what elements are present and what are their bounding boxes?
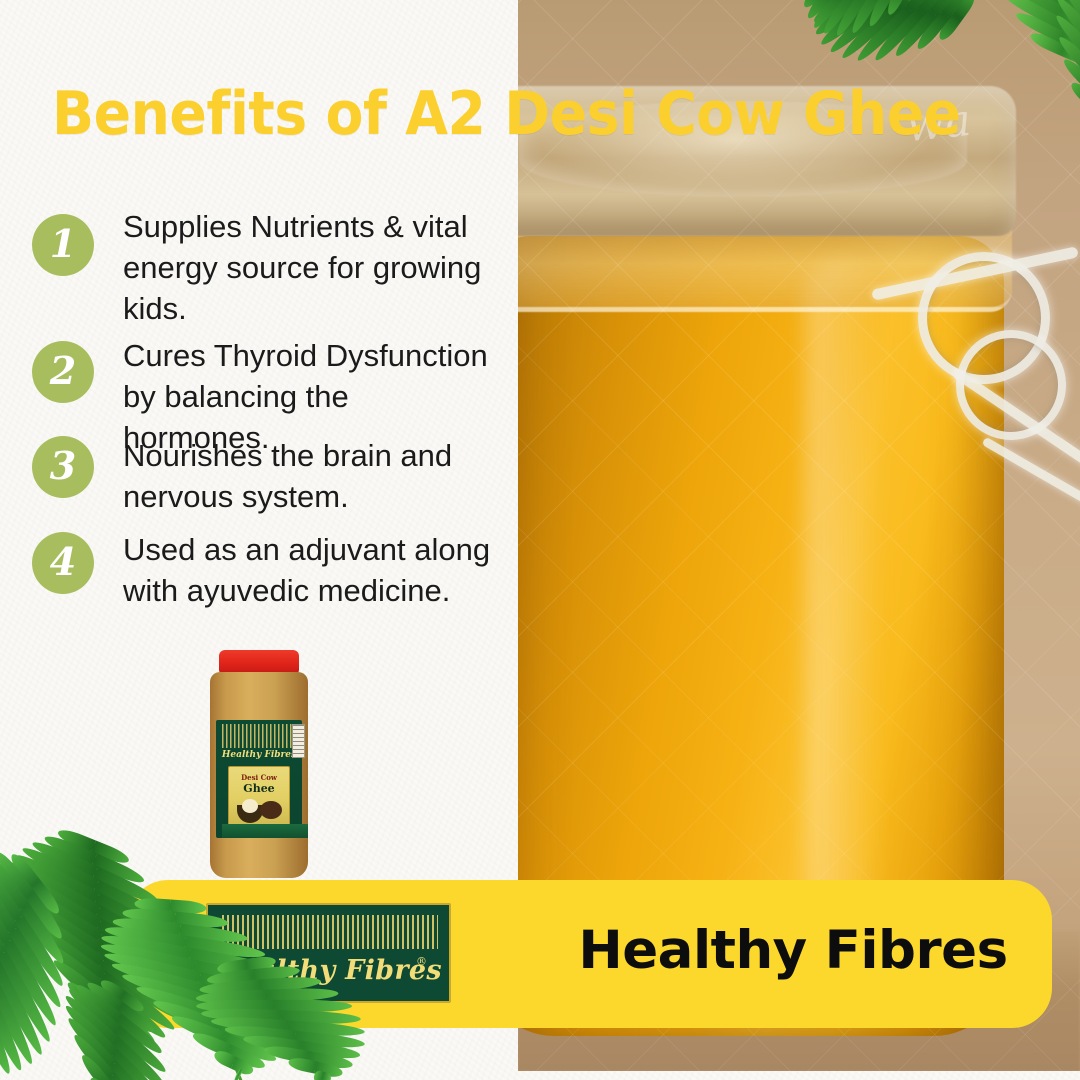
frond-leaflet	[1060, 44, 1080, 70]
frond-leaflet	[175, 912, 229, 930]
frond-leaflet	[811, 0, 852, 27]
frond-leaflet	[91, 840, 131, 866]
frond-leaflet	[207, 996, 298, 1035]
frond-leaflet	[7, 851, 40, 888]
frond-leaflet	[42, 832, 97, 866]
frond-leaflet	[66, 985, 121, 1035]
frond-leaflet	[7, 866, 102, 930]
frond-leaflet	[110, 1050, 166, 1080]
frond-leaflet	[866, 0, 899, 28]
product-jar-lid	[219, 650, 299, 674]
frond-leaflet	[108, 1061, 160, 1080]
label-product-line2: Ghee	[229, 782, 289, 795]
benefit-text: Supplies Nutrients & vital energy source…	[123, 206, 503, 329]
frond-leaflet	[0, 1010, 3, 1077]
frond-leaflet	[193, 960, 289, 993]
frond-leaflet	[833, 0, 876, 38]
frond-leaflet	[65, 1015, 117, 1069]
label-inner-panel: Desi Cow Ghee	[228, 766, 290, 828]
frond-leaflet	[246, 955, 277, 971]
frond-leaflet	[93, 880, 172, 928]
product-jar-label: Healthy Fibres Desi Cow Ghee	[216, 720, 302, 838]
frond-leaflet	[274, 1000, 352, 1012]
frond-leaflet	[134, 897, 171, 912]
frond-leaflet	[1058, 5, 1080, 53]
frond-leaflet	[9, 857, 101, 917]
frond-leaflet	[7, 927, 65, 1010]
frond-leaflet	[119, 991, 146, 1015]
frond-leaflet	[95, 906, 187, 966]
ghee-bowl-illustration	[237, 805, 263, 823]
palm-frond-icon	[1052, 0, 1065, 56]
frond-leaflet	[99, 971, 178, 1034]
frond-leaflet	[904, 0, 963, 13]
frond-leaflet	[0, 986, 26, 1073]
frond-leaflet	[868, 0, 926, 7]
frond-leaflet	[1060, 31, 1080, 65]
frond-leaflet	[212, 1008, 294, 1047]
frond-leaflet	[1, 939, 61, 1029]
frond-leaflet	[314, 1061, 343, 1079]
frond-leaflet	[0, 856, 12, 946]
frond-leaflet	[64, 978, 110, 1020]
frond-leaflet	[27, 918, 106, 981]
nutrition-table-icon	[292, 724, 305, 758]
frond-leaflet	[170, 1012, 227, 1045]
frond-leaflet	[313, 1070, 324, 1080]
benefit-text: Nourishes the brain and nervous system.	[123, 435, 503, 517]
frond-leaflet	[1013, 9, 1065, 43]
frond-leaflet	[98, 977, 125, 1001]
frond-leaflet	[92, 1026, 112, 1046]
frond-leaflet	[198, 972, 296, 1008]
frond-leaflet	[0, 848, 23, 922]
frond-leaflet	[134, 982, 216, 1021]
frond-leaflet	[19, 902, 106, 968]
frond-leaflet	[73, 981, 122, 1023]
frond-leaflet	[991, 0, 1065, 16]
frond-leaflet	[1062, 0, 1080, 37]
frond-leaflet	[321, 1072, 332, 1080]
frond-leaflet	[287, 1020, 365, 1038]
frond-leaflet	[913, 11, 949, 52]
frond-leaflet	[100, 940, 196, 973]
frond-stem	[1054, 0, 1065, 56]
frond-leaflet	[813, 0, 864, 38]
frond-leaflet	[84, 979, 124, 1013]
frond-leaflet	[827, 0, 889, 57]
frond-leaflet	[93, 867, 161, 908]
frond-leaflet	[839, 2, 901, 62]
frond-leaflet	[106, 1073, 151, 1080]
frond-leaflet	[110, 959, 206, 997]
frond-leaflet	[0, 998, 15, 1076]
frond-leaflet	[96, 932, 191, 998]
frond-leaflet	[151, 996, 222, 1033]
frond-leaflet	[1060, 56, 1080, 97]
frond-leaflet	[78, 1052, 114, 1080]
frond-leaflet	[1058, 0, 1080, 46]
frond-leaflet	[0, 963, 47, 1057]
frond-leaflet	[936, 13, 962, 42]
frond-leaflet	[818, 0, 876, 48]
frond-leaflet	[191, 1029, 232, 1056]
frond-leaflet	[201, 1007, 281, 1022]
frond-leaflet	[1055, 0, 1080, 5]
frond-leaflet	[1028, 29, 1066, 55]
frond-leaflet	[179, 924, 248, 946]
frond-leaflet	[288, 1056, 317, 1074]
frond-leaflet	[916, 0, 969, 15]
frond-leaflet	[100, 931, 191, 960]
frond-leaflet	[70, 1032, 115, 1080]
frond-leaflet	[212, 1048, 236, 1069]
frond-stem	[103, 990, 124, 1080]
frond-leaflet	[844, 0, 885, 3]
frond-leaflet	[114, 1026, 169, 1076]
frond-leaflet	[103, 1049, 112, 1058]
palm-frond-icon	[90, 840, 112, 1070]
frond-leaflet	[1056, 0, 1080, 29]
frond-leaflet	[115, 1014, 164, 1056]
registered-trademark-icon: ®	[416, 955, 427, 968]
frond-leaflet	[1001, 0, 1065, 29]
frond-leaflet	[62, 1002, 118, 1058]
frond-leaflet	[101, 1010, 147, 1052]
frond-leaflet	[104, 1062, 113, 1071]
benefit-number-badge: 4	[32, 532, 94, 594]
frond-leaflet	[120, 970, 211, 1009]
frond-leaflet	[294, 1031, 365, 1051]
frond-leaflet	[811, 0, 839, 15]
frond-leaflet	[236, 1069, 243, 1080]
frond-stem	[92, 840, 111, 1070]
frond-leaflet	[207, 969, 254, 986]
frond-leaflet	[1056, 0, 1080, 18]
frond-leaflet	[98, 958, 185, 1024]
frond-leaflet	[983, 0, 1064, 3]
frond-leaflet	[0, 874, 1, 968]
frond-leaflet	[99, 984, 168, 1042]
benefit-number-badge: 3	[32, 436, 94, 498]
frond-leaflet	[30, 880, 63, 917]
frond-leaflet	[217, 959, 248, 975]
frond-leaflet	[903, 0, 923, 2]
frond-leaflet	[0, 849, 35, 900]
frond-leaflet	[1053, 12, 1080, 73]
frond-leaflet	[952, 0, 978, 21]
frond-leaflet	[1068, 79, 1080, 108]
frond-leaflet	[184, 936, 266, 961]
frond-leaflet	[20, 843, 99, 891]
frond-leaflet	[24, 892, 66, 943]
frond-leaflet	[856, 0, 907, 5]
frond-leaflet	[77, 1001, 110, 1033]
frond-leaflet	[92, 853, 147, 887]
label-brand-text: Healthy Fibres	[216, 750, 302, 760]
frond-leaflet	[928, 0, 974, 17]
frond-leaflet	[210, 1015, 288, 1033]
frond-leaflet	[1059, 18, 1080, 59]
frond-leaflet	[1053, 0, 1080, 61]
frond-leaflet	[103, 1049, 112, 1058]
frond-leaflet	[804, 0, 840, 22]
frond-leaflet	[892, 0, 954, 11]
frond-leaflet	[264, 1043, 310, 1063]
frond-leaflet	[281, 1010, 361, 1025]
frond-leaflet	[112, 1038, 170, 1080]
frond-leaflet	[242, 1033, 302, 1053]
frond-leaflet	[103, 949, 201, 985]
frond-leaflet	[0, 951, 55, 1045]
frond-leaflet	[8, 876, 103, 942]
benefit-text: Used as an adjuvant along with ayuvedic …	[123, 529, 503, 611]
frond-leaflet	[260, 975, 321, 992]
frond-leaflet	[854, 4, 913, 65]
cow-illustration	[260, 801, 282, 819]
frond-leaflet	[196, 1000, 274, 1012]
frond-leaflet	[104, 1062, 113, 1071]
frond-leaflet	[892, 9, 938, 60]
frond-leaflet	[62, 992, 120, 1046]
frond-leaflet	[87, 1075, 113, 1080]
label-wave-pattern	[222, 724, 296, 748]
frond-leaflet	[199, 979, 260, 996]
frond-stem	[167, 899, 247, 1080]
frond-leaflet	[104, 923, 186, 948]
frond-leaflet	[94, 893, 181, 947]
frond-stem	[242, 959, 332, 1080]
frond-leaflet	[38, 936, 107, 994]
frond-leaflet	[267, 987, 339, 1002]
palm-frond-icon	[808, 0, 963, 21]
frond-leaflet	[189, 948, 280, 977]
poster-canvas: wa Benefits of A2 Desi Cow Ghee 1 Suppli…	[0, 0, 1080, 1080]
frond-leaflet	[1070, 0, 1080, 25]
frond-leaflet	[0, 851, 18, 934]
frond-leaflet	[301, 1041, 361, 1061]
palm-frond-icon	[241, 958, 333, 1080]
frond-leaflet	[196, 990, 268, 1005]
frond-leaflet	[940, 0, 976, 19]
benefit-number-badge: 2	[32, 341, 94, 403]
frond-leaflet	[50, 956, 108, 1007]
frond-leaflet	[102, 1023, 135, 1055]
frond-leaflet	[203, 984, 299, 1022]
frond-stem	[808, 0, 963, 19]
frond-leaflet	[820, 0, 864, 37]
frond-leaflet	[100, 997, 158, 1048]
palm-frond-decoration-top-right	[760, 0, 1080, 290]
frond-leaflet	[30, 837, 98, 878]
frond-leaflet	[0, 848, 29, 911]
frond-leaflet	[1057, 0, 1080, 39]
frond-leaflet	[848, 0, 887, 36]
label-product-line1: Desi Cow	[229, 773, 289, 782]
frond-leaflet	[832, 0, 860, 1]
frond-leaflet	[103, 1036, 123, 1056]
frond-leaflet	[224, 1023, 295, 1043]
frond-leaflet	[810, 0, 852, 31]
frond-leaflet	[117, 1003, 157, 1037]
frond-leaflet	[231, 1057, 255, 1078]
frond-leaflet	[12, 889, 104, 956]
palm-frond-decoration-bottom-left	[0, 830, 360, 1080]
frond-leaflet	[0, 974, 37, 1066]
frond-leaflet	[872, 6, 925, 63]
benefit-number-badge: 1	[32, 214, 94, 276]
frond-leaflet	[122, 906, 176, 924]
frond-leaflet	[880, 0, 942, 9]
frond-leaflet	[234, 1068, 241, 1080]
palm-frond-icon	[0, 877, 41, 1073]
frond-leaflet	[13, 850, 100, 904]
frond-leaflet	[13, 915, 68, 989]
palm-frond-icon	[165, 899, 247, 1080]
frond-leaflet	[56, 826, 96, 852]
frond-leaflet	[884, 0, 911, 17]
frond-leaflet	[112, 915, 181, 937]
frond-leaflet	[217, 1020, 288, 1057]
frond-leaflet	[226, 1045, 267, 1072]
frond-leaflet	[0, 864, 7, 958]
palm-frond-icon	[102, 990, 126, 1080]
frond-leaflet	[97, 945, 189, 1012]
frond-leaflet	[222, 1033, 279, 1066]
frond-leaflet	[308, 1051, 354, 1071]
frond-stem	[0, 877, 39, 1072]
frond-leaflet	[96, 919, 191, 983]
frond-leaflet	[800, 0, 828, 11]
frond-leaflet	[253, 964, 300, 981]
banner-brand-title: Healthy Fibres	[558, 916, 1028, 986]
frond-leaflet	[813, 0, 826, 3]
frond-leaflet	[1056, 0, 1080, 49]
frond-leaflet	[18, 903, 68, 966]
frond-leaflet	[170, 900, 207, 915]
frond-leaflet	[1055, 33, 1080, 85]
